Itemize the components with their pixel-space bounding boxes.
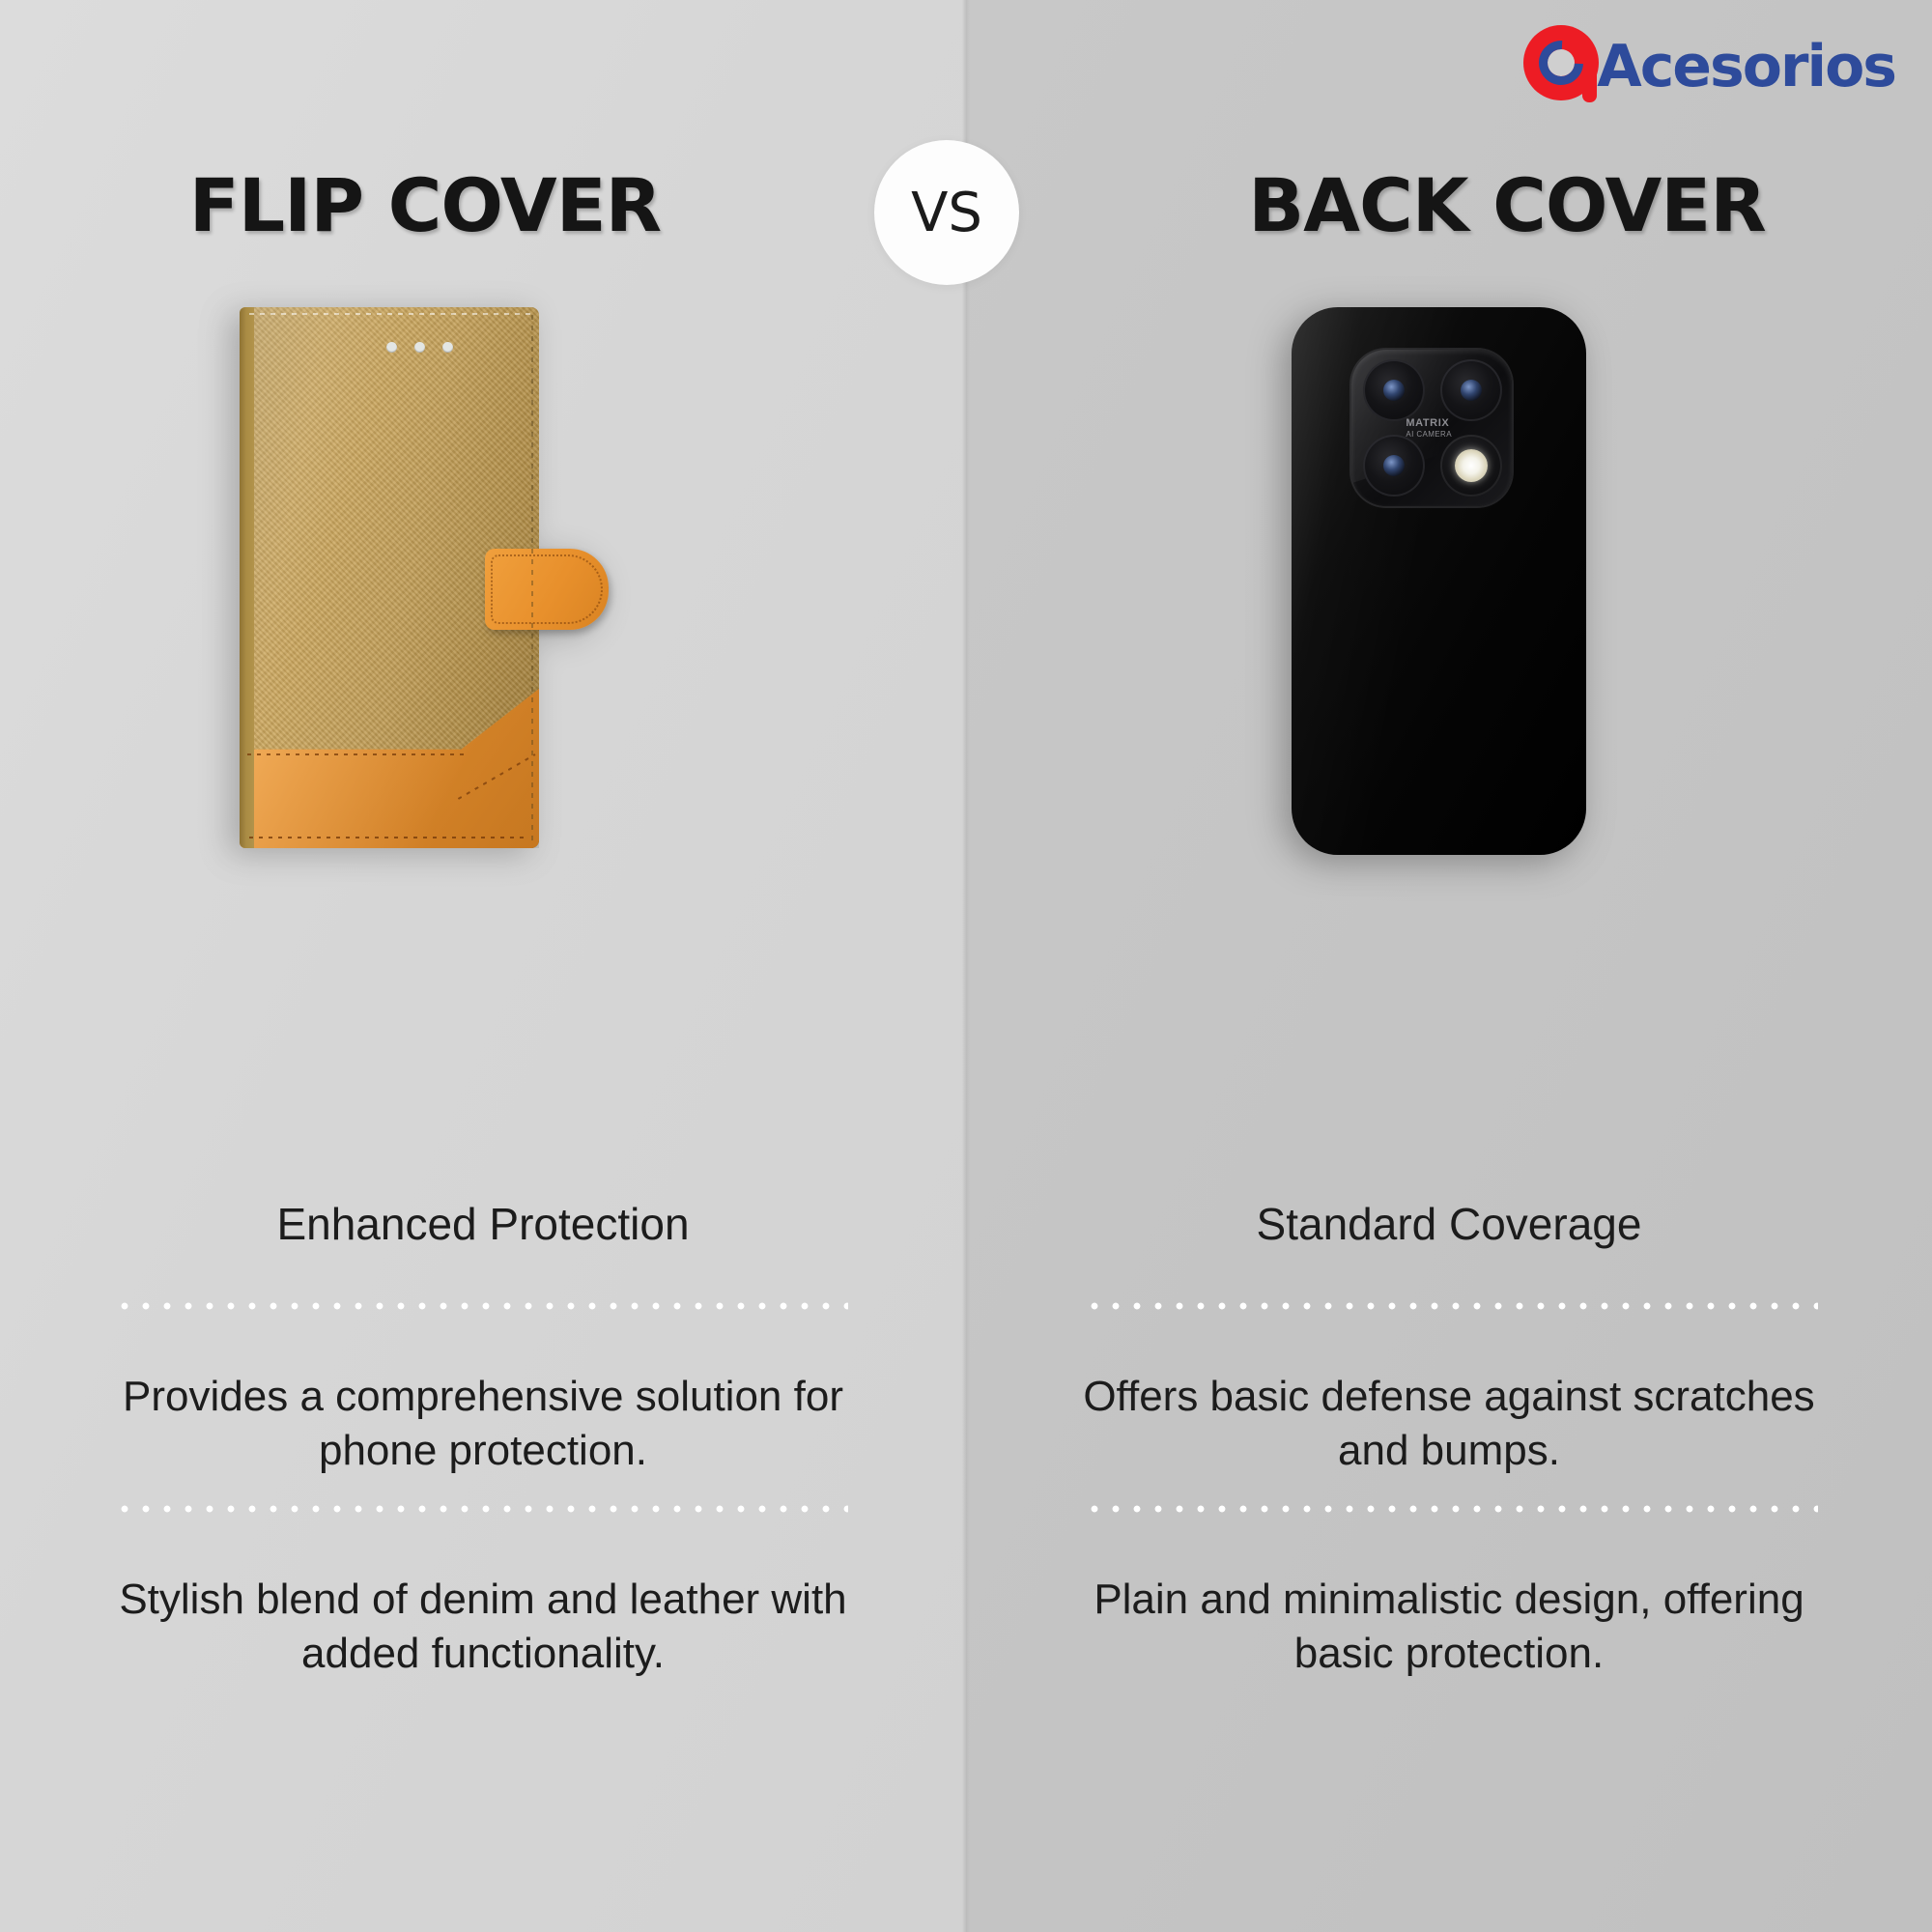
right-divider-2 [1084, 1503, 1818, 1515]
brand-logo: Acesorios [1523, 21, 1895, 104]
left-feature-1: Provides a comprehensive solution for ph… [87, 1370, 879, 1479]
left-divider-1 [114, 1300, 848, 1312]
left-product-title: FLIP COVER [0, 162, 850, 248]
top-stitching [249, 313, 533, 315]
camera-flash-icon [1440, 435, 1502, 497]
left-feature-2: Stylish blend of denim and leather with … [87, 1573, 879, 1682]
right-feature-1: Offers basic defense against scratches a… [1053, 1370, 1845, 1479]
back-cover-product-image: MATRIX AI CAMERA [1292, 307, 1586, 855]
right-feature-2: Plain and minimalistic design, offering … [1053, 1573, 1845, 1682]
leather-bottom-stitching [249, 837, 529, 838]
cover-spine [240, 307, 254, 848]
camera-lens-icon [1440, 359, 1502, 421]
camera-module: MATRIX AI CAMERA [1351, 350, 1512, 506]
versus-label: VS [911, 182, 982, 244]
camera-lens-icon [1363, 435, 1425, 497]
flip-cover-product-image [240, 307, 539, 848]
speaker-dots-icon [386, 342, 453, 353]
left-subtitle: Enhanced Protection [0, 1198, 966, 1250]
right-subtitle: Standard Coverage [966, 1198, 1932, 1250]
left-divider-2 [114, 1503, 848, 1515]
magnetic-clasp-icon [485, 549, 609, 630]
camera-lens-icon [1363, 359, 1425, 421]
versus-badge: VS [874, 140, 1019, 285]
side-stitching [531, 315, 533, 840]
brand-name: Acesorios [1597, 38, 1895, 96]
acesorios-a-logo-icon [1523, 25, 1599, 100]
comparison-infographic: Acesorios FLIP COVER BACK COVER VS M [0, 0, 1932, 1932]
right-product-title: BACK COVER [1082, 162, 1932, 248]
panel-divider-seam [962, 0, 970, 1932]
right-divider-1 [1084, 1300, 1818, 1312]
leather-top-stitching [247, 753, 469, 755]
